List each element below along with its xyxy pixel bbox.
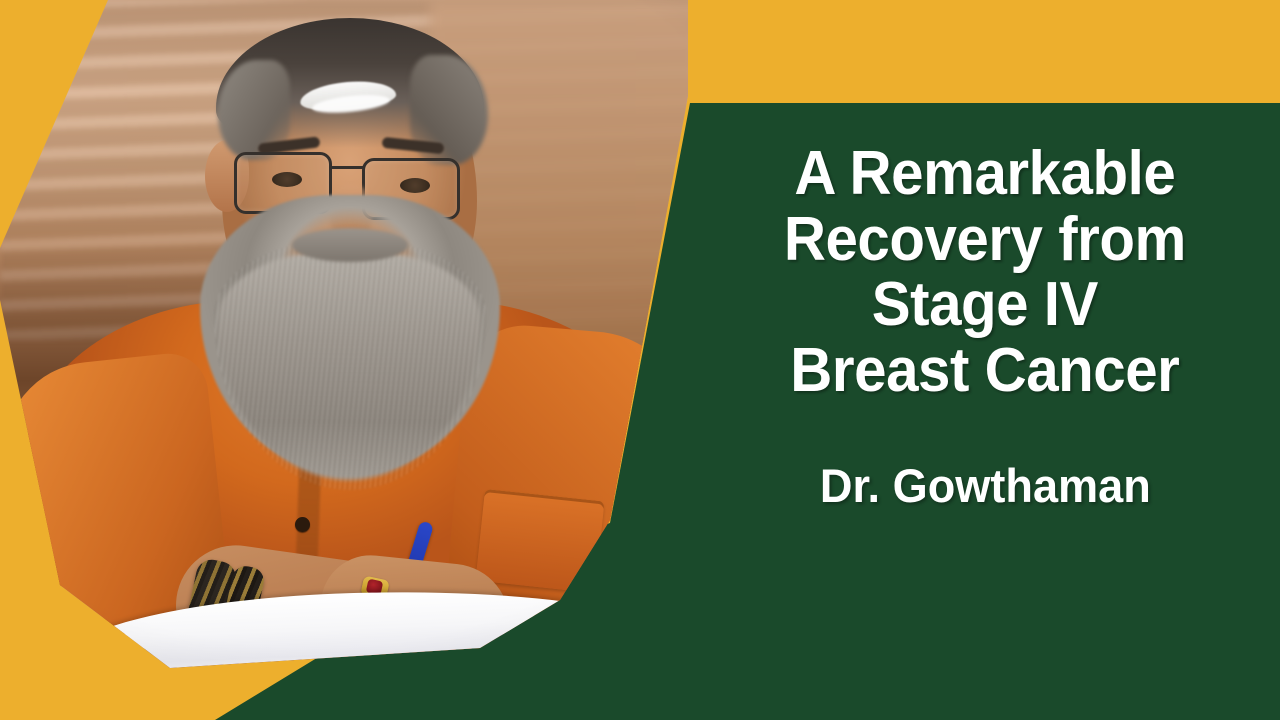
title-line-3: Stage IV <box>784 272 1186 338</box>
speaker-name: Dr. Gowthaman <box>820 458 1151 513</box>
moustache <box>292 228 408 262</box>
title-text-column: A Remarkable Recovery from Stage IV Brea… <box>690 103 1280 720</box>
kurta-button <box>295 517 310 532</box>
title-line-2: Recovery from <box>784 207 1186 273</box>
title-line-4: Breast Cancer <box>784 338 1186 404</box>
thumbnail-canvas: A Remarkable Recovery from Stage IV Brea… <box>0 0 1280 720</box>
page-title: A Remarkable Recovery from Stage IV Brea… <box>784 141 1186 404</box>
title-line-1: A Remarkable <box>784 141 1186 207</box>
glasses-bridge <box>331 166 365 169</box>
